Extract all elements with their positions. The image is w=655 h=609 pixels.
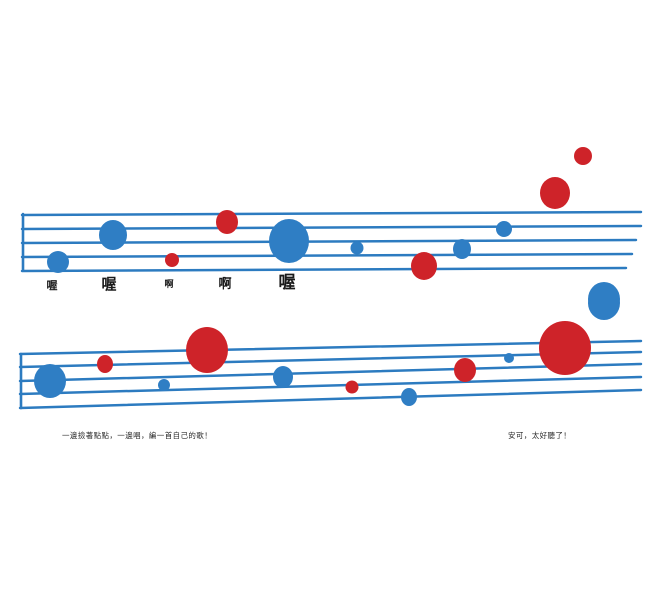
- upper-staff-notes: [47, 147, 620, 316]
- note-dot-red: [454, 358, 476, 382]
- lyric-syllable: 啊: [164, 281, 173, 290]
- note-dot-blue: [158, 379, 170, 391]
- caption-right: 安可，太好聽了！: [508, 431, 571, 440]
- note-dot-red: [574, 147, 592, 165]
- staff-artboard: [0, 0, 655, 609]
- note-dot-blue: [588, 286, 620, 320]
- note-dot-blue: [351, 242, 364, 255]
- note-dot-blue: [269, 219, 309, 263]
- note-dot-red: [540, 177, 570, 209]
- lyric-syllable: 喔: [101, 277, 116, 292]
- note-dot-red: [186, 327, 228, 373]
- upper-staff-line-1: [22, 212, 641, 215]
- lower-staff-notes: [34, 286, 620, 406]
- note-dot-blue: [34, 364, 66, 398]
- illustration-page: 喔喔啊啊喔 一邊撿著點點，一邊唱，編一首自己的歌！ 安可，太好聽了！: [0, 0, 655, 609]
- note-dot-blue: [496, 221, 512, 237]
- lyric-syllable: 喔: [279, 275, 296, 292]
- upper-staff-line-5: [22, 268, 626, 271]
- upper-staff-line-4: [22, 254, 632, 257]
- lyric-syllable: 啊: [218, 278, 231, 291]
- note-dot-red: [165, 253, 179, 267]
- note-dot-blue: [47, 251, 69, 273]
- note-dot-red: [539, 321, 591, 375]
- note-dot-blue: [273, 366, 293, 388]
- note-dot-blue: [401, 388, 417, 406]
- note-dot-blue: [453, 239, 471, 259]
- note-dot-blue: [504, 353, 514, 363]
- note-dot-red: [216, 210, 238, 234]
- lyric-syllable: 喔: [47, 280, 58, 291]
- note-dot-red: [346, 381, 359, 394]
- note-dot-red: [97, 355, 113, 373]
- note-dot-blue: [99, 220, 127, 250]
- note-dot-red: [411, 252, 437, 280]
- caption-left: 一邊撿著點點，一邊唱，編一首自己的歌！: [62, 431, 212, 440]
